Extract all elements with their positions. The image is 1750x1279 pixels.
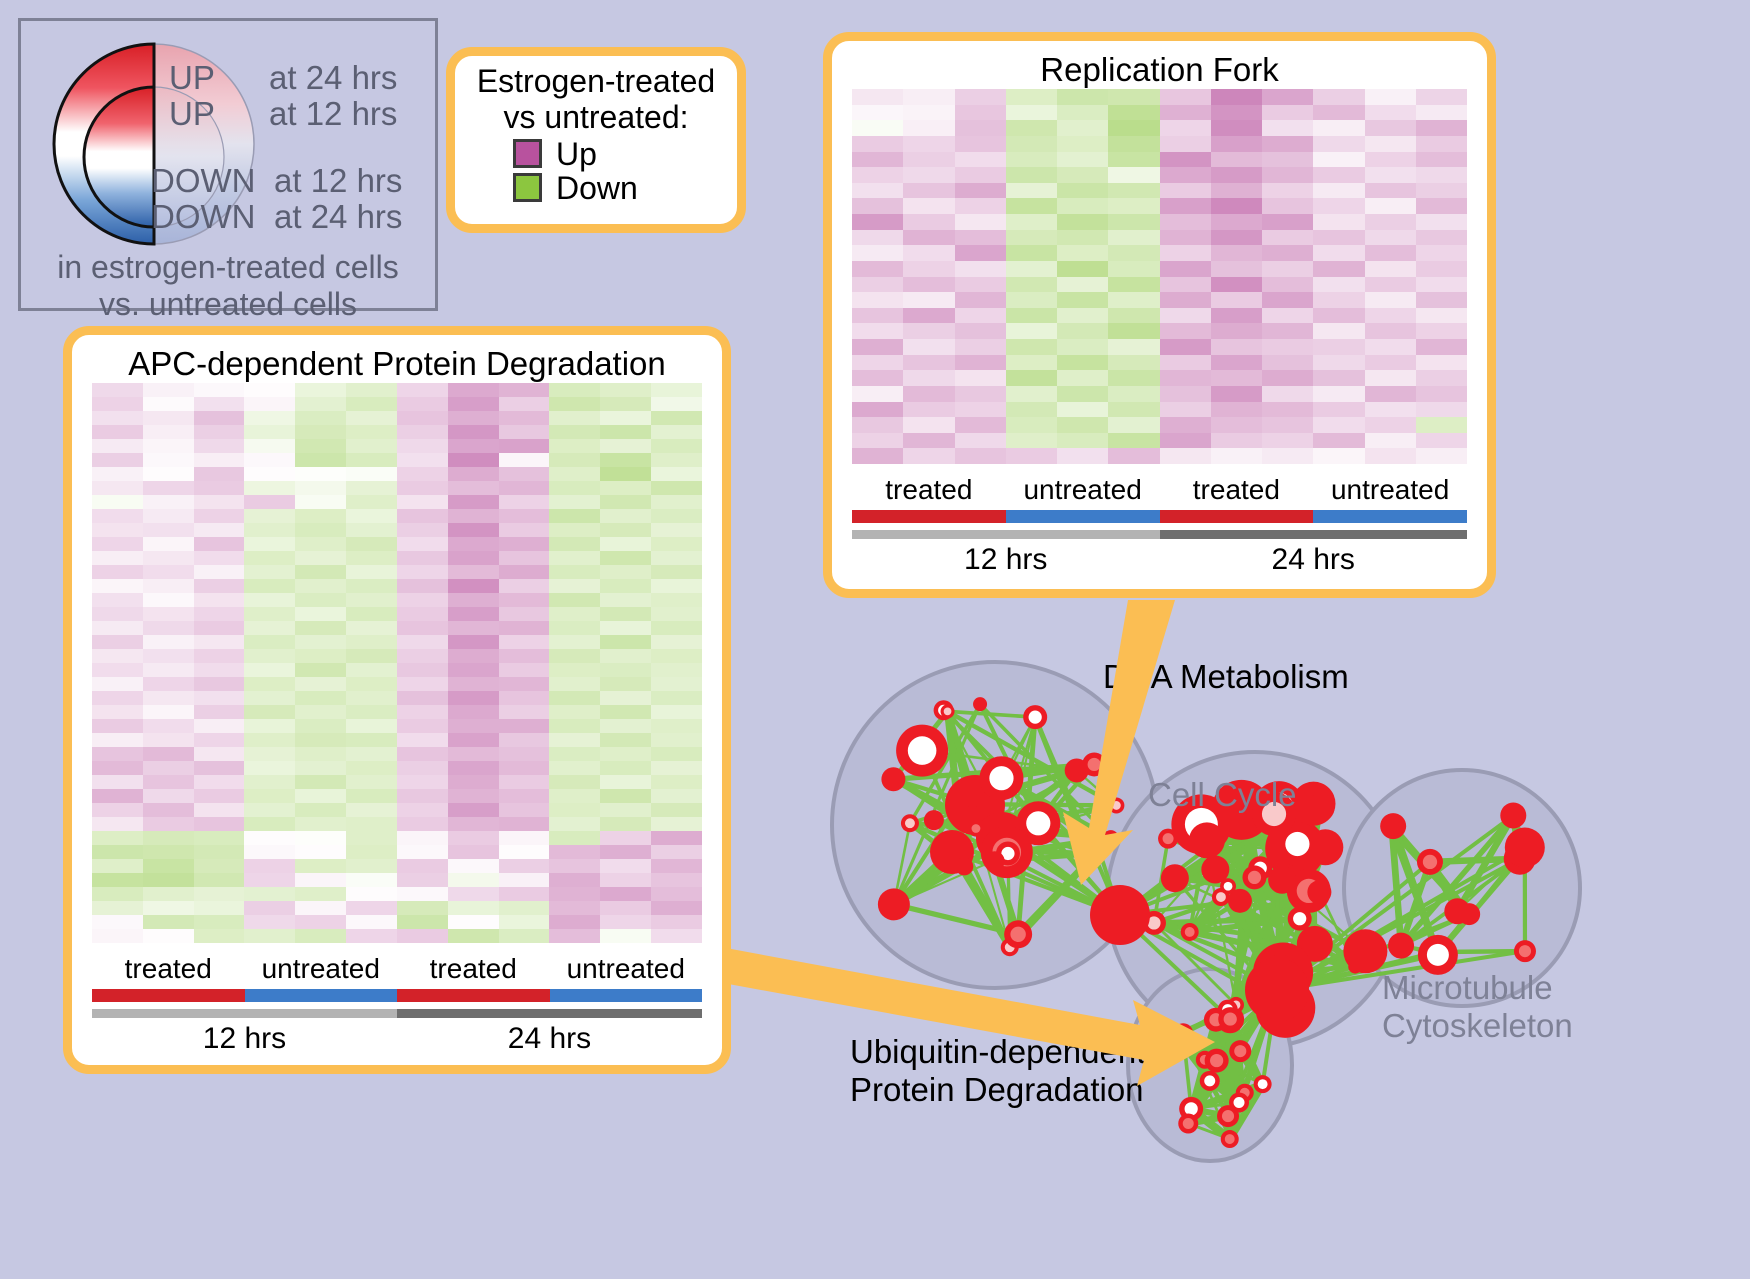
heatmap-cell <box>295 481 346 495</box>
heatmap-cell <box>295 453 346 467</box>
heatmap-cell <box>346 705 397 719</box>
heatmap-cell <box>1416 277 1467 293</box>
node-inner-core <box>1029 711 1042 724</box>
heatmap-cell <box>1416 198 1467 214</box>
heatmap-cell <box>244 579 295 593</box>
heatmap-cell <box>600 733 651 747</box>
heatmap-cell <box>549 775 600 789</box>
heatmap-cell <box>194 733 245 747</box>
network-node[interactable] <box>1090 885 1150 945</box>
heatmap-cell <box>651 859 702 873</box>
heatmap-cell <box>651 803 702 817</box>
heatmap-cell <box>244 677 295 691</box>
heatmap-cell <box>1416 167 1467 183</box>
time-label: 12 hrs <box>852 543 1160 577</box>
condition-label: untreated <box>1006 474 1160 506</box>
node-solid <box>924 810 944 830</box>
network-node[interactable] <box>1343 929 1387 973</box>
network-node[interactable] <box>1221 1130 1239 1148</box>
heatmap-cell <box>143 649 194 663</box>
heatmap-cell <box>1262 292 1313 308</box>
node-inner-core <box>1234 1097 1245 1108</box>
heatmap-cell <box>295 817 346 831</box>
heatmap-cell <box>1006 370 1057 386</box>
heatmap-cell <box>1108 323 1159 339</box>
heatmap-cell <box>346 579 397 593</box>
heatmap-cell <box>448 663 499 677</box>
network-node[interactable] <box>1268 866 1296 894</box>
heatmap-cell <box>346 481 397 495</box>
heatmap-cell <box>852 245 903 261</box>
heatmap-cell <box>852 152 903 168</box>
network-node[interactable] <box>924 810 944 830</box>
network-node[interactable] <box>878 888 910 920</box>
heatmap-cell <box>1262 183 1313 199</box>
heatmap-cell <box>600 775 651 789</box>
heatmap-cell <box>549 607 600 621</box>
heatmap-cell <box>903 230 954 246</box>
heatmap-cell <box>397 775 448 789</box>
network-node[interactable] <box>1307 794 1335 822</box>
heatmap-cell <box>955 230 1006 246</box>
legend-item-up: Up <box>455 138 737 170</box>
heatmap-cell <box>143 845 194 859</box>
heatmap-cell <box>1262 136 1313 152</box>
replication-fork-title: Replication Fork <box>832 51 1487 89</box>
network-node[interactable] <box>1417 849 1443 875</box>
heatmap-cell <box>600 761 651 775</box>
heatmap-cell <box>397 859 448 873</box>
heatmap-cell <box>92 579 143 593</box>
heatmap-cell <box>397 747 448 761</box>
heatmap-cell <box>600 747 651 761</box>
heatmap-cell <box>903 292 954 308</box>
network-node[interactable] <box>1173 1023 1193 1043</box>
heatmap-cell <box>549 383 600 397</box>
network-node[interactable] <box>985 851 1005 871</box>
heatmap-cell <box>244 691 295 705</box>
heatmap-cell <box>651 831 702 845</box>
heatmap-cell <box>1416 339 1467 355</box>
heatmap-cell <box>1108 152 1159 168</box>
heatmap-cell <box>1211 433 1262 449</box>
network-node[interactable] <box>1217 1105 1239 1127</box>
heatmap-cell <box>448 789 499 803</box>
heatmap-cell <box>651 565 702 579</box>
heatmap-cell <box>143 915 194 929</box>
heatmap-cell <box>346 635 397 649</box>
heatmap-cell <box>1416 230 1467 246</box>
heatmap-cell <box>651 467 702 481</box>
heatmap-cell <box>92 537 143 551</box>
heatmap-cell <box>499 537 550 551</box>
heatmap-cell <box>448 649 499 663</box>
heatmap-cell <box>1006 355 1057 371</box>
network-node[interactable] <box>1229 1040 1251 1062</box>
network-node[interactable] <box>1103 830 1119 846</box>
network-node[interactable] <box>1218 1007 1242 1031</box>
heatmap-cell <box>92 663 143 677</box>
heatmap-cell <box>1108 167 1159 183</box>
heatmap-cell <box>651 747 702 761</box>
heatmap-cell <box>600 453 651 467</box>
heatmap-cell <box>600 621 651 635</box>
cluster-label-cell-cycle: Cell Cycle <box>1148 776 1297 814</box>
heatmap-cell <box>903 136 954 152</box>
heatmap-cell <box>852 417 903 433</box>
network-node[interactable] <box>1161 864 1189 892</box>
heatmap-cell <box>194 593 245 607</box>
heatmap-cell <box>903 105 954 121</box>
heatmap-cell <box>448 733 499 747</box>
heatmap-cell <box>1057 386 1108 402</box>
heatmap-cell <box>903 214 954 230</box>
heatmap-cell <box>194 663 245 677</box>
heatmap-cell <box>1211 230 1262 246</box>
heatmap-cell <box>903 308 954 324</box>
heatmap-cell <box>651 523 702 537</box>
heatmap-cell <box>1313 89 1364 105</box>
network-node[interactable] <box>1380 813 1406 839</box>
heatmap-cell <box>397 901 448 915</box>
heatmap-cell <box>295 579 346 593</box>
heatmap-cell <box>549 831 600 845</box>
heatmap-cell <box>194 929 245 943</box>
time-label: 24 hrs <box>1160 543 1468 577</box>
heatmap-cell <box>448 495 499 509</box>
network-node[interactable] <box>1254 1075 1272 1093</box>
heatmap-cell <box>852 214 903 230</box>
heatmap-cell <box>295 719 346 733</box>
network-node[interactable] <box>1205 1049 1229 1073</box>
heatmap-cell <box>397 691 448 705</box>
heatmap-cell <box>1006 120 1057 136</box>
apc-condition-bar <box>92 989 702 1002</box>
replication-fork-panel: Replication Fork treateduntreatedtreated… <box>823 32 1496 598</box>
node-solid <box>1444 898 1470 924</box>
heatmap-cell <box>1313 277 1364 293</box>
heatmap-cell <box>143 425 194 439</box>
heatmap-cell <box>1416 355 1467 371</box>
heatmap-cell <box>397 621 448 635</box>
heatmap-cell <box>600 887 651 901</box>
heatmap-cell <box>194 887 245 901</box>
network-node[interactable] <box>1023 705 1047 729</box>
heatmap-cell <box>1416 386 1467 402</box>
heatmap-cell <box>1160 370 1211 386</box>
heatmap-cell <box>92 915 143 929</box>
heatmap-cell <box>1365 417 1416 433</box>
network-node[interactable] <box>1178 1114 1198 1134</box>
heatmap-cell <box>92 859 143 873</box>
heatmap-cell <box>143 663 194 677</box>
heatmap-cell <box>852 402 903 418</box>
heatmap-cell <box>1262 433 1313 449</box>
heatmap-cell <box>397 635 448 649</box>
apc-time-labels: 12 hrs24 hrs <box>92 1022 702 1056</box>
heatmap-cell <box>1108 89 1159 105</box>
heatmap-cell <box>955 261 1006 277</box>
node-inner-core <box>1423 855 1437 869</box>
heatmap-cell <box>651 579 702 593</box>
heatmap-cell <box>92 509 143 523</box>
heatmap-cell <box>1365 214 1416 230</box>
heatmap-cell <box>903 323 954 339</box>
heatmap-cell <box>499 607 550 621</box>
heatmap-cell <box>499 593 550 607</box>
heatmap-cell <box>295 537 346 551</box>
heatmap-cell <box>143 621 194 635</box>
heatmap-cell <box>1057 89 1108 105</box>
network-node[interactable] <box>1082 752 1106 776</box>
heatmap-cell <box>448 859 499 873</box>
heatmap-cell <box>194 425 245 439</box>
network-node[interactable] <box>1200 1071 1220 1091</box>
heatmap-cell <box>92 551 143 565</box>
heatmap-cell <box>194 915 245 929</box>
heatmap-cell <box>295 789 346 803</box>
heatmap-cell <box>346 761 397 775</box>
time-color-segment <box>92 1009 397 1018</box>
network-node[interactable] <box>1108 797 1124 813</box>
heatmap-cell <box>1006 183 1057 199</box>
node-inner-core <box>1216 892 1226 902</box>
heatmap-cell <box>903 198 954 214</box>
heatmap-cell <box>244 859 295 873</box>
heatmap-cell <box>600 873 651 887</box>
heatmap-cell <box>1365 245 1416 261</box>
heatmap-cell <box>244 565 295 579</box>
heatmap-cell <box>549 565 600 579</box>
heatmap-cell <box>549 621 600 635</box>
heatmap-cell <box>903 167 954 183</box>
heatmap-cell <box>651 817 702 831</box>
heatmap-cell <box>295 621 346 635</box>
heatmap-cell <box>244 523 295 537</box>
heatmap-cell <box>143 747 194 761</box>
heatmap-cell <box>903 152 954 168</box>
heatmap-cell <box>194 677 245 691</box>
network-node[interactable] <box>1245 958 1309 1022</box>
node-inner-core <box>1112 801 1121 810</box>
heatmap-cell <box>1160 245 1211 261</box>
heatmap-cell <box>1416 214 1467 230</box>
heatmap-cell <box>600 663 651 677</box>
heatmap-cell <box>194 495 245 509</box>
heatmap-cell <box>499 817 550 831</box>
network-node[interactable] <box>1004 920 1032 948</box>
heatmap-cell <box>244 481 295 495</box>
cluster-label-dna-metabolism: DNA Metabolism <box>1103 658 1349 696</box>
heatmap-cell <box>1160 292 1211 308</box>
heatmap-cell <box>92 425 143 439</box>
heatmap-cell <box>852 120 903 136</box>
heatmap-cell <box>346 859 397 873</box>
heatmap-cell <box>244 383 295 397</box>
heatmap-cell <box>448 719 499 733</box>
heatmap-cell <box>1006 433 1057 449</box>
heatmap-cell <box>1160 386 1211 402</box>
node-inner-core <box>1210 1054 1223 1067</box>
heatmap-cell <box>244 495 295 509</box>
network-node[interactable] <box>979 756 1023 800</box>
heatmap-cell <box>92 383 143 397</box>
network-node[interactable] <box>1079 844 1099 864</box>
heatmap-cell <box>92 467 143 481</box>
heatmap-cell <box>651 901 702 915</box>
heatmap-cell <box>651 789 702 803</box>
heatmap-cell <box>1057 230 1108 246</box>
heatmap-cell <box>549 467 600 481</box>
network-node[interactable] <box>964 805 982 823</box>
heatmap-cell <box>499 523 550 537</box>
key-time-2: at 12 hrs <box>274 162 402 200</box>
heatmap-cell <box>397 789 448 803</box>
network-node[interactable] <box>896 725 948 777</box>
heatmap-cell <box>92 705 143 719</box>
heatmap-cell <box>600 817 651 831</box>
heatmap-cell <box>92 621 143 635</box>
heatmap-cell <box>1262 448 1313 464</box>
heatmap-cell <box>346 747 397 761</box>
heatmap-cell <box>143 439 194 453</box>
heatmap-cell <box>499 677 550 691</box>
heatmap-cell <box>1313 339 1364 355</box>
heatmap-cell <box>143 705 194 719</box>
heatmap-cell <box>346 439 397 453</box>
heatmap-cell <box>92 929 143 943</box>
heatmap-cell <box>852 198 903 214</box>
heatmap-cell <box>600 635 651 649</box>
heatmap-cell <box>143 523 194 537</box>
heatmap-cell <box>143 383 194 397</box>
network-node[interactable] <box>1242 865 1266 889</box>
heatmap-cell <box>448 411 499 425</box>
heatmap-cell <box>1262 167 1313 183</box>
heatmap-cell <box>1160 105 1211 121</box>
heatmap-cell <box>1160 89 1211 105</box>
heatmap-cell <box>1313 105 1364 121</box>
heatmap-cell <box>397 411 448 425</box>
network-node[interactable] <box>1388 933 1414 959</box>
network-node[interactable] <box>901 814 919 832</box>
heatmap-cell <box>143 873 194 887</box>
heatmap-cell <box>651 607 702 621</box>
network-node[interactable] <box>1201 856 1229 884</box>
heatmap-cell <box>651 397 702 411</box>
heatmap-cell <box>549 803 600 817</box>
network-node[interactable] <box>1444 898 1470 924</box>
heatmap-cell <box>1160 323 1211 339</box>
heatmap-cell <box>1108 261 1159 277</box>
heatmap-cell <box>1365 261 1416 277</box>
network-node[interactable] <box>1181 923 1199 941</box>
heatmap-cell <box>244 817 295 831</box>
heatmap-cell <box>1108 120 1159 136</box>
heatmap-cell <box>346 551 397 565</box>
heatmap-cell <box>903 261 954 277</box>
heatmap-cell <box>346 495 397 509</box>
heatmap-cell <box>903 355 954 371</box>
heatmap-cell <box>1416 105 1467 121</box>
heatmap-cell <box>499 495 550 509</box>
heatmap-cell <box>397 845 448 859</box>
condition-label: treated <box>92 953 245 985</box>
heatmap-cell <box>499 635 550 649</box>
heatmap-cell <box>346 411 397 425</box>
heatmap-cell <box>549 705 600 719</box>
heatmap-cell <box>244 831 295 845</box>
heatmap-cell <box>600 551 651 565</box>
heatmap-cell <box>397 383 448 397</box>
heatmap-cell <box>194 747 245 761</box>
network-node[interactable] <box>1288 907 1312 931</box>
heatmap-cell <box>549 873 600 887</box>
network-node[interactable] <box>955 857 973 875</box>
heatmap-cell <box>600 705 651 719</box>
heatmap-cell <box>448 901 499 915</box>
heatmap-cell <box>499 887 550 901</box>
heatmap-cell <box>194 775 245 789</box>
node-inner-core <box>1258 1079 1268 1089</box>
node-inner-core <box>1185 927 1195 937</box>
heatmap-cell <box>295 775 346 789</box>
heatmap-cell <box>1006 152 1057 168</box>
heatmap-cell <box>600 593 651 607</box>
condition-color-segment <box>245 989 398 1002</box>
heatmap-cell <box>955 448 1006 464</box>
heatmap-cell <box>852 230 903 246</box>
heatmap-cell <box>92 901 143 915</box>
heatmap-cell <box>1262 230 1313 246</box>
cluster-label-microtubule: Microtubule Cytoskeleton <box>1382 969 1573 1045</box>
network-node[interactable] <box>973 697 987 711</box>
heatmap-cell <box>1057 277 1108 293</box>
heatmap-cell <box>1365 433 1416 449</box>
heatmap-cell <box>1313 183 1364 199</box>
heatmap-cell <box>346 873 397 887</box>
heatmap-cell <box>1057 433 1108 449</box>
network-node[interactable] <box>1307 880 1331 904</box>
time-color-segment <box>852 530 1160 539</box>
heatmap-cell <box>346 691 397 705</box>
network-node[interactable] <box>881 767 905 791</box>
heatmap-cell <box>1006 323 1057 339</box>
heatmap-cell <box>397 579 448 593</box>
heatmap-cell <box>1416 448 1467 464</box>
network-node[interactable] <box>1514 940 1536 962</box>
heatmap-cell <box>1416 136 1467 152</box>
heatmap-cell <box>499 789 550 803</box>
heatmap-cell <box>955 167 1006 183</box>
heatmap-cell <box>955 355 1006 371</box>
network-node[interactable] <box>1500 802 1526 828</box>
heatmap-cell <box>448 677 499 691</box>
heatmap-cell <box>244 705 295 719</box>
heatmap-cell <box>1006 214 1057 230</box>
heatmap-cell <box>651 509 702 523</box>
heatmap-cell <box>1416 89 1467 105</box>
node-inner-core <box>1026 811 1050 835</box>
heatmap-cell <box>92 873 143 887</box>
heatmap-cell <box>1416 417 1467 433</box>
network-node[interactable] <box>1189 822 1225 858</box>
heatmap-cell <box>499 901 550 915</box>
network-node[interactable] <box>941 704 955 718</box>
heatmap-cell <box>244 761 295 775</box>
node-inner-core <box>1178 1028 1189 1039</box>
network-node[interactable] <box>1505 828 1545 868</box>
